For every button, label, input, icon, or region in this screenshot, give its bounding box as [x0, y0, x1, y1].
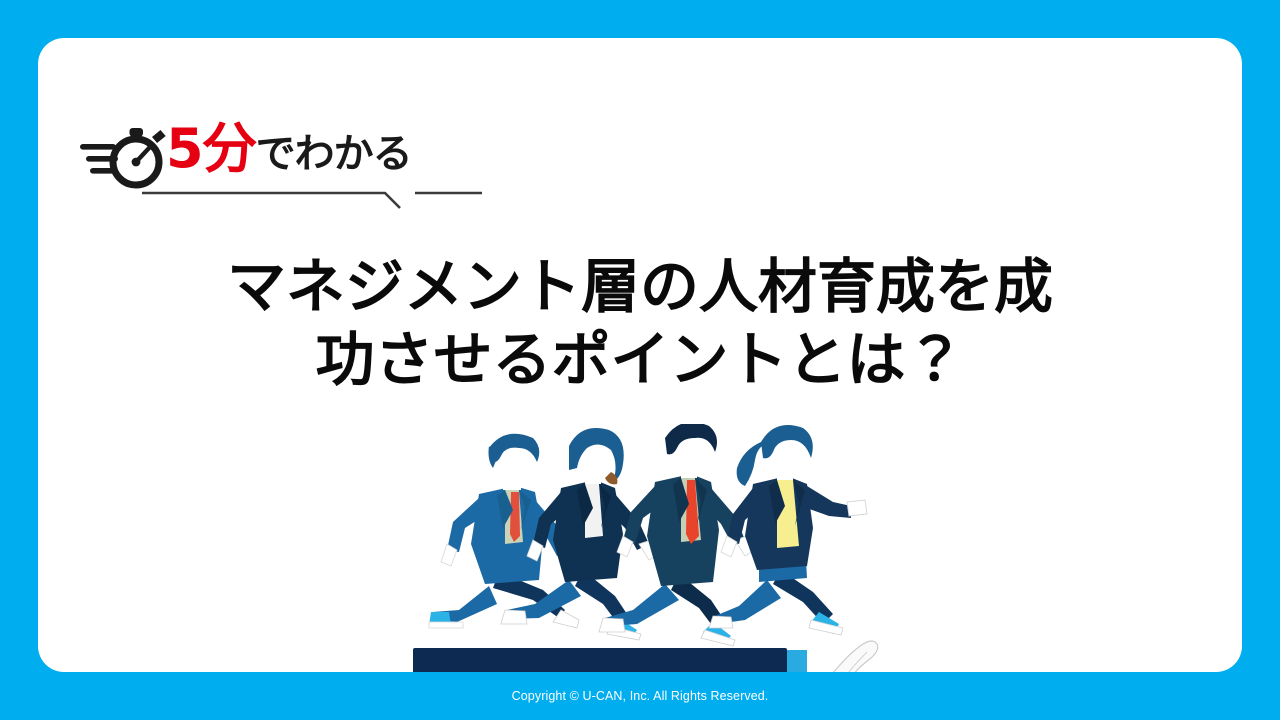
- running-business-people-illustration: [393, 424, 973, 672]
- eyebrow-underline: [142, 188, 482, 210]
- eyebrow-badge: 5分でわかる: [80, 116, 500, 204]
- page-title: マネジメント層の人材育成を成 功させるポイントとは？: [98, 250, 1182, 396]
- eyebrow-minutes: 5分: [166, 117, 256, 180]
- pointing-arm-banner: [413, 641, 959, 672]
- slide-root: 5分でわかる マネジメント層の人材育成を成 功させるポイントとは？: [0, 0, 1280, 720]
- footer: Copyright © U-CAN, Inc. All Rights Reser…: [0, 672, 1280, 720]
- sleeve: [413, 648, 787, 672]
- page-title-line-2: 功させるポイントとは？: [98, 323, 1182, 396]
- eyebrow-suffix: でわかる: [256, 131, 412, 177]
- content-card: 5分でわかる マネジメント層の人材育成を成 功させるポイントとは？: [38, 38, 1242, 672]
- stopwatch-icon: [80, 120, 172, 194]
- page-title-line-1: マネジメント層の人材育成を成: [98, 250, 1182, 323]
- person-4: [709, 425, 867, 635]
- copyright-text: Copyright © U-CAN, Inc. All Rights Reser…: [512, 689, 769, 703]
- eyebrow-text: 5分でわかる: [166, 112, 412, 186]
- sleeve-cuff: [785, 650, 807, 672]
